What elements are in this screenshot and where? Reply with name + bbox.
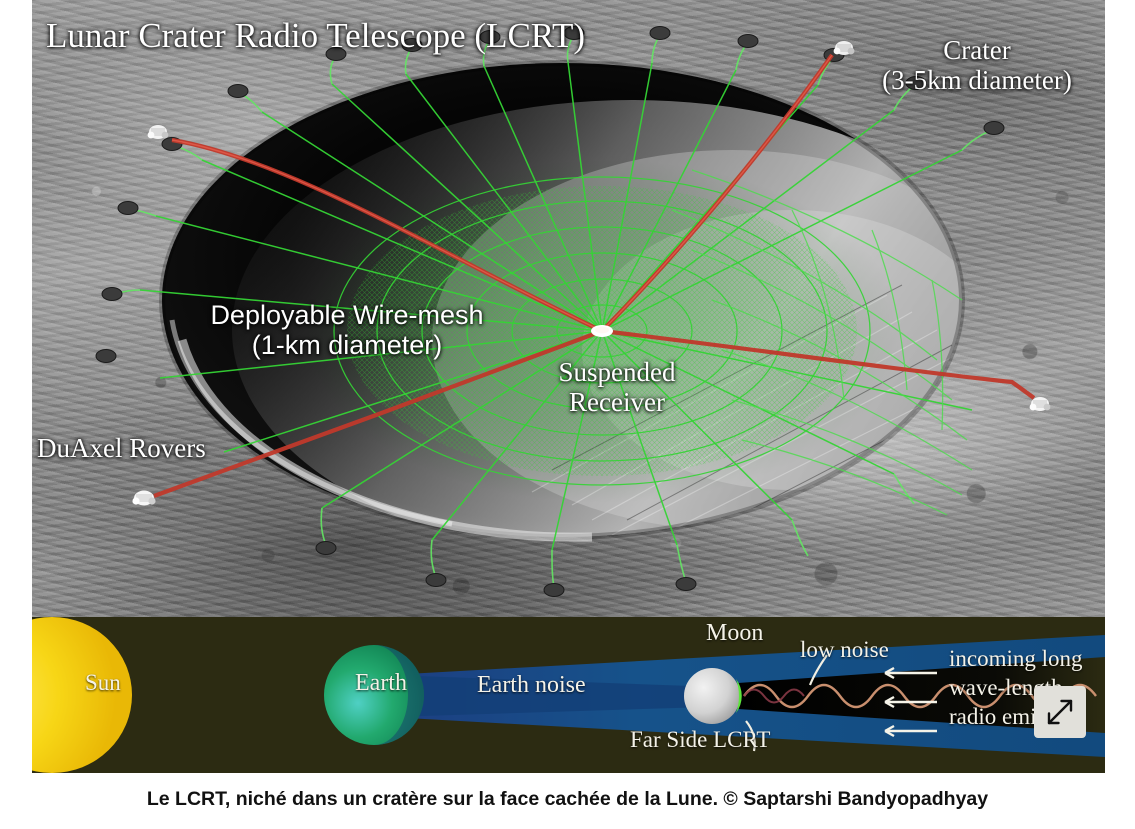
expand-arrows-glyph: [1043, 695, 1077, 729]
duaxel-rover: [148, 125, 169, 139]
suspended-receiver: [591, 325, 613, 337]
duaxel-rover: [834, 41, 855, 55]
crater-vector-overlay: [32, 0, 1105, 617]
moon-sphere: [684, 668, 740, 724]
crater-illustration-panel: Lunar Crater Radio Telescope (LCRT) Crat…: [32, 0, 1105, 617]
expand-diagonal-icon[interactable]: [1034, 686, 1086, 738]
schematic-panel: [32, 617, 1105, 773]
schematic-vector: [32, 617, 1105, 773]
sun-sphere: [32, 617, 132, 773]
figure-caption: Le LCRT, niché dans un cratère sur la fa…: [0, 788, 1135, 811]
duaxel-rover: [132, 491, 155, 506]
lcrt-figure[interactable]: Lunar Crater Radio Telescope (LCRT) Crat…: [32, 0, 1105, 773]
article-figure-block: Lunar Crater Radio Telescope (LCRT) Crat…: [0, 0, 1135, 829]
